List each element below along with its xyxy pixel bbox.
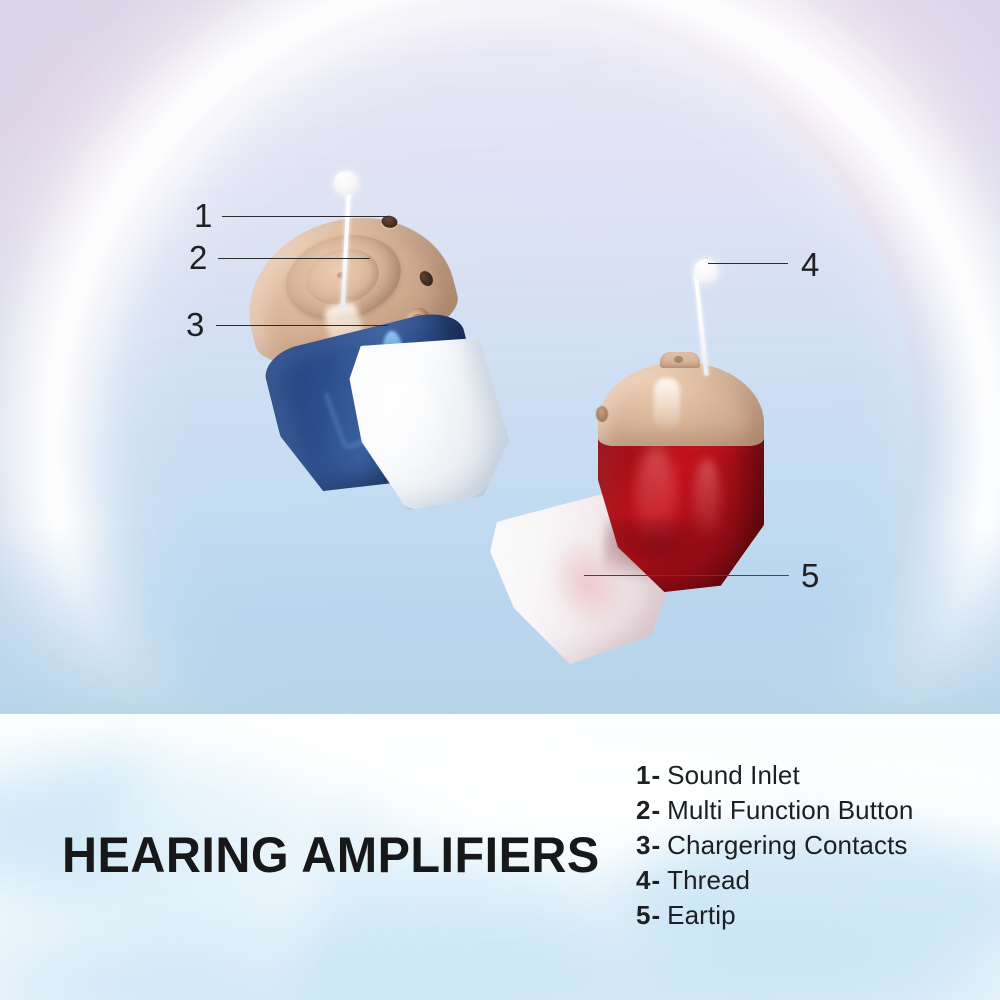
page-title: HEARING AMPLIFIERS [62,826,600,884]
callout-number-2: 2 [189,239,207,277]
legend-number: 2 [636,795,650,826]
legend-label: Eartip [667,900,736,931]
leader-line-2 [218,258,370,259]
red-cap-nub-hole [674,356,683,363]
legend-item: 2 - Multi Function Button [636,795,913,830]
legend-dash: - [651,900,660,931]
legend-label: Multi Function Button [667,795,913,826]
red-device-body [598,362,764,590]
legend-list: 1 - Sound Inlet 2 - Multi Function Butto… [636,760,913,935]
cloud-texture [0,929,1000,1000]
legend-dash: - [651,830,660,861]
red-cap-highlight [654,378,680,430]
legend-label: Thread [667,865,750,896]
legend-dash: - [651,795,660,826]
legend-label: Chargering Contacts [667,830,907,861]
legend-label: Sound Inlet [667,760,800,791]
legend-number: 1 [636,760,650,791]
red-body-shadow [604,518,724,582]
red-hearing-amplifier [500,250,840,670]
callout-number-4: 4 [801,246,819,284]
legend-number: 4 [636,865,650,896]
legend-dash: - [651,865,660,896]
leader-line-3 [216,325,388,326]
legend-item: 5 - Eartip [636,900,913,935]
leader-line-4 [708,263,788,264]
legend-item: 1 - Sound Inlet [636,760,913,795]
product-infographic: 1 2 3 4 5 HEARING AMPLIFIERS 1 - Sound I… [0,0,1000,1000]
legend-number: 5 [636,900,650,931]
callout-number-5: 5 [801,557,819,595]
legend-dash: - [651,760,660,791]
hero-image-panel: 1 2 3 4 5 [0,0,1000,714]
red-device-beige-cap [598,362,764,446]
leader-line-5 [584,575,789,576]
red-device-side-port [596,406,608,422]
legend-number: 3 [636,830,650,861]
legend-item: 3 - Chargering Contacts [636,830,913,865]
callout-number-3: 3 [186,306,204,344]
callout-number-1: 1 [194,197,212,235]
thread-ball-icon [334,171,358,195]
legend-item: 4 - Thread [636,865,913,900]
leader-line-1 [222,216,390,217]
cloud-texture [300,714,600,804]
